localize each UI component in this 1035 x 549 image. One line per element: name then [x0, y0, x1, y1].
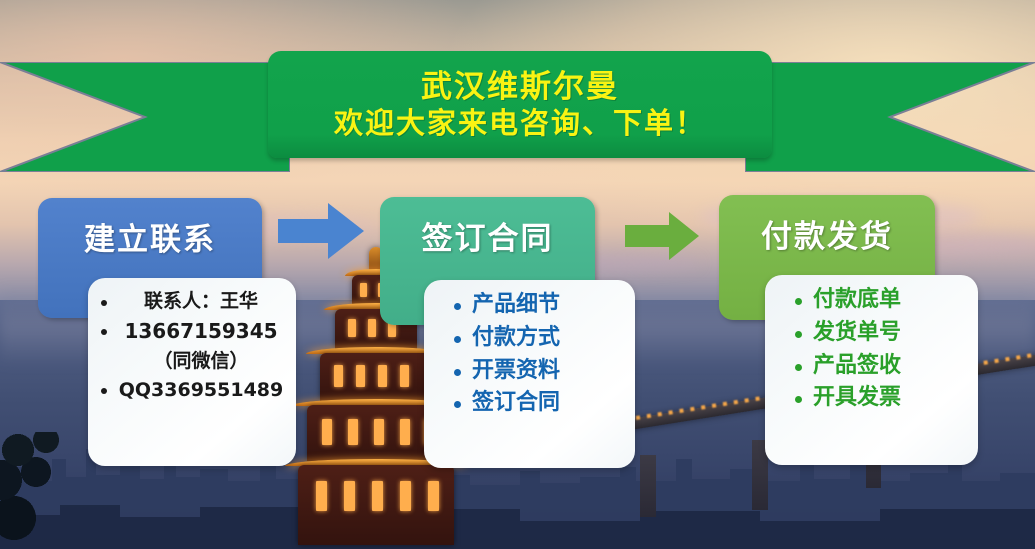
step-1-list: 联系人：王华 13667159345 （同微信） QQ3369551489	[98, 290, 286, 402]
ribbon-left-tail	[0, 62, 290, 172]
list-item: 开具发票	[775, 385, 968, 412]
list-item: 13667159345	[98, 319, 286, 343]
slide-canvas: 武汉维斯尔曼 欢迎大家来电咨询、下单！ 建立联系 联系人：王华 13667159…	[0, 0, 1035, 549]
step-3-title: 付款发货	[761, 211, 893, 256]
step-1-title: 建立联系	[84, 214, 216, 259]
ribbon-right-tail	[745, 62, 1035, 172]
bridge-pier	[640, 455, 656, 517]
step-2-title: 签订合同	[422, 213, 554, 258]
list-item: （同微信）	[98, 350, 286, 373]
ribbon-banner: 武汉维斯尔曼 欢迎大家来电咨询、下单！	[0, 0, 1035, 200]
list-item: 产品签收	[775, 353, 968, 380]
ribbon-center-panel: 武汉维斯尔曼 欢迎大家来电咨询、下单！	[268, 51, 772, 158]
arrow-right-icon-2	[625, 212, 699, 260]
arrow-right-icon-1	[278, 203, 364, 259]
step-2-card[interactable]: 产品细节 付款方式 开票资料 签订合同	[424, 280, 635, 468]
list-item: 付款底单	[775, 287, 968, 314]
list-item: 产品细节	[434, 292, 625, 319]
banner-company-name: 武汉维斯尔曼	[421, 69, 619, 106]
list-item: 开票资料	[434, 358, 625, 385]
list-item: 联系人：王华	[98, 290, 286, 313]
list-item: 发货单号	[775, 320, 968, 347]
list-item: 签订合同	[434, 390, 625, 417]
list-item: QQ3369551489	[98, 379, 286, 402]
step-3-list: 付款底单 发货单号 产品签收 开具发票	[775, 287, 968, 412]
step-1-card[interactable]: 联系人：王华 13667159345 （同微信） QQ3369551489	[88, 278, 296, 466]
banner-tagline: 欢迎大家来电咨询、下单！	[334, 106, 706, 140]
step-2-list: 产品细节 付款方式 开票资料 签订合同	[434, 292, 625, 417]
step-3-card[interactable]: 付款底单 发货单号 产品签收 开具发票	[765, 275, 978, 465]
list-item: 付款方式	[434, 325, 625, 352]
